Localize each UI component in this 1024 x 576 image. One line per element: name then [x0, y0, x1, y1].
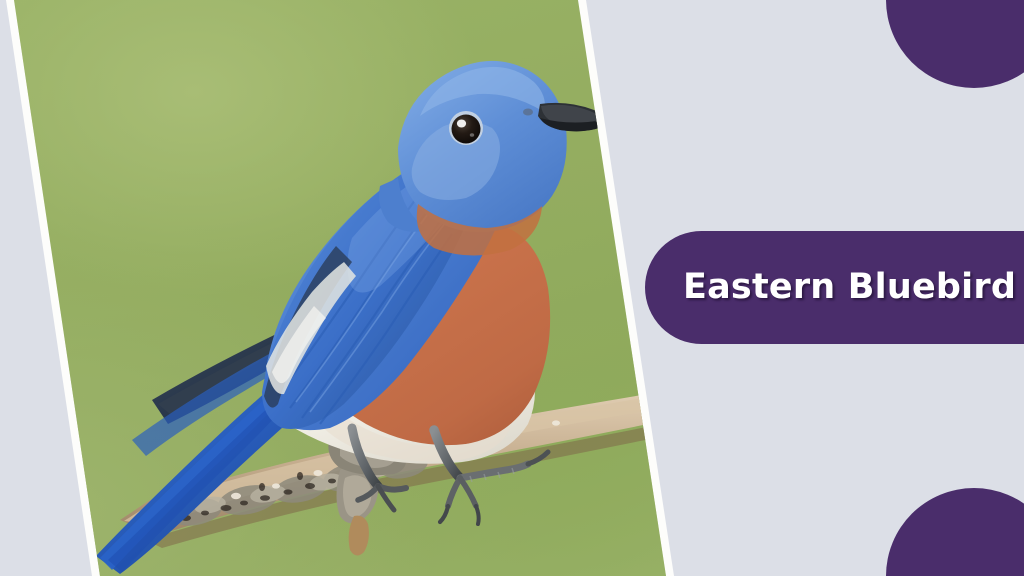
purple-circle-decoration-top-right: [886, 0, 1024, 88]
bird-head: [379, 61, 606, 256]
slide-canvas: Eastern Bluebird: [0, 0, 1024, 576]
page-title: Eastern Bluebird: [683, 270, 1016, 305]
photo-panel: [0, 0, 700, 576]
purple-circle-decoration-bottom-right: [886, 488, 1024, 576]
title-badge: Eastern Bluebird: [645, 231, 1024, 344]
